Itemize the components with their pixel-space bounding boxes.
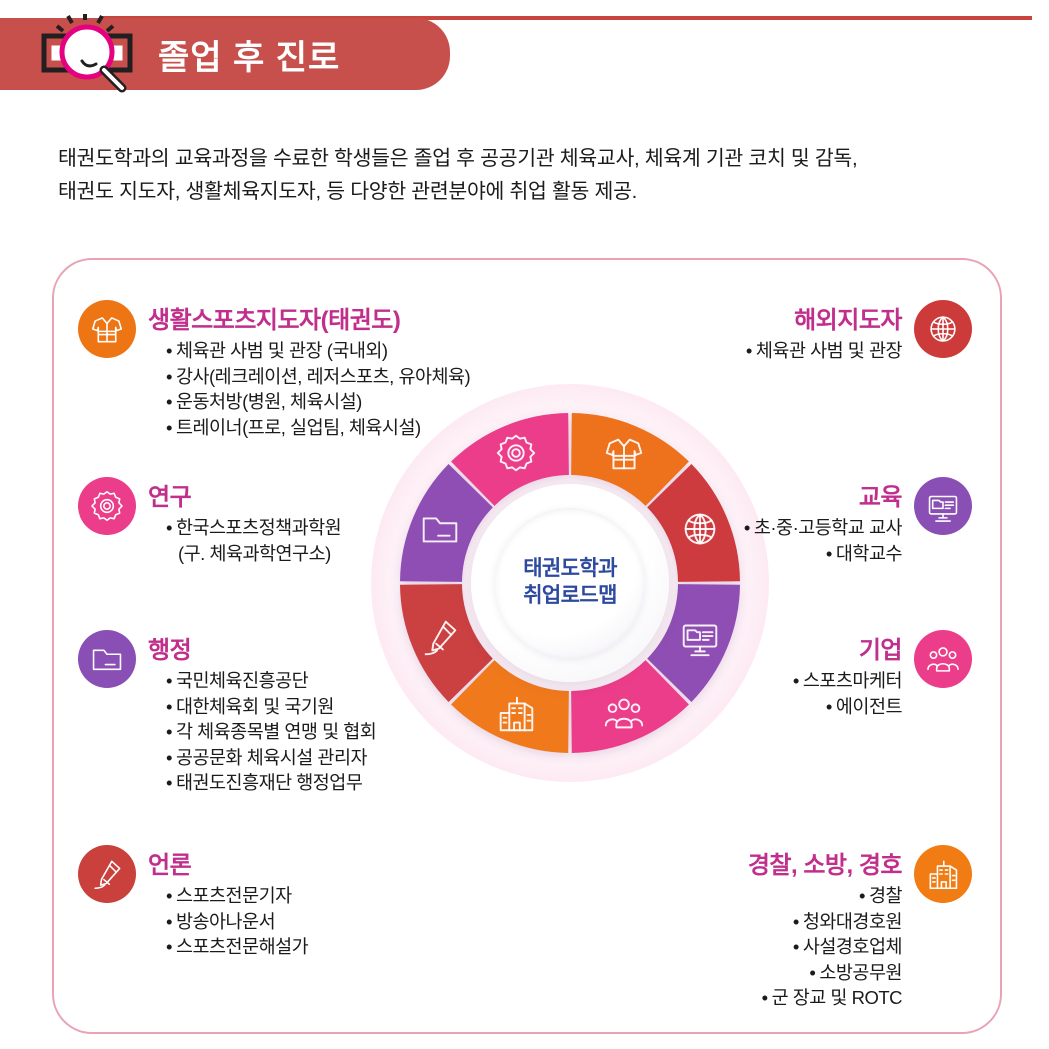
section-list-item-label: 소방공무원 xyxy=(819,962,902,983)
section-list-item: •각 체육종목별 연맹 및 협회 xyxy=(166,719,376,745)
section-sports-leader: 생활스포츠지도자(태권도) •체육관 사범 및 관장 (국내외)•강사(레크레이… xyxy=(78,300,470,440)
section-list-item-label: 에이전트 xyxy=(836,696,902,717)
section-list-item: •소방공무원 xyxy=(640,960,902,986)
monitor-badge xyxy=(914,477,972,535)
section-list-item-label: 강사(레크레이션, 레저스포츠, 유아체육) xyxy=(176,366,470,387)
section-list-item: •체육관 사범 및 관장 xyxy=(640,338,902,364)
section-list-item-label: 태권도진흥재단 행정업무 xyxy=(176,772,362,793)
section-title-sports-leader: 생활스포츠지도자(태권도) xyxy=(148,300,470,335)
bullet-icon: • xyxy=(746,340,752,361)
section-list-item: •운동처방(병원, 체육시설) xyxy=(166,389,470,415)
section-list-item: •초·중·고등학교 교사 xyxy=(640,515,902,541)
bullet-icon: • xyxy=(166,391,172,412)
section-list-item-label: 청와대경호원 xyxy=(803,911,902,932)
section-list-item: •경찰 xyxy=(640,883,902,909)
intro-paragraph: 태권도학과의 교육과정을 수료한 학생들은 졸업 후 공공기관 체육교사, 체육… xyxy=(58,142,1018,208)
section-list-item: •대학교수 xyxy=(640,541,902,567)
section-list-item: •체육관 사범 및 관장 (국내외) xyxy=(166,338,470,364)
section-list-item-label: 체육관 사범 및 관장 (국내외) xyxy=(176,340,388,361)
bullet-icon: • xyxy=(166,885,172,906)
section-list-item: •에이전트 xyxy=(640,694,902,720)
section-media: 언론 •스포츠전문기자•방송아나운서•스포츠전문해설가 xyxy=(78,845,308,960)
section-list-corporate: •스포츠마케터•에이전트 xyxy=(640,668,902,719)
section-list-sports-leader: •체육관 사범 및 관장 (국내외)•강사(레크레이션, 레저스포츠, 유아체육… xyxy=(166,338,470,440)
bullet-icon: • xyxy=(166,517,172,538)
section-list-item-label: 공공문화 체육시설 관리자 xyxy=(176,747,367,768)
section-list-item-label: 대학교수 xyxy=(836,543,902,564)
section-list-item: •국민체육진흥공단 xyxy=(166,668,376,694)
section-title-corporate: 기업 xyxy=(640,630,902,665)
section-list-item-label: 초·중·고등학교 교사 xyxy=(754,517,902,538)
pen-badge xyxy=(78,845,136,903)
section-list-item: •방송아나운서 xyxy=(166,909,308,935)
section-list-item-label: 트레이너(프로, 실업팀, 체육시설) xyxy=(176,417,421,438)
bullet-icon: • xyxy=(166,772,172,793)
bullet-icon: • xyxy=(166,366,172,387)
section-title-media: 언론 xyxy=(148,845,308,880)
section-list-item: •공공문화 체육시설 관리자 xyxy=(166,745,376,771)
intro-line-1: 태권도학과의 교육과정을 수료한 학생들은 졸업 후 공공기관 체육교사, 체육… xyxy=(58,142,1018,175)
bullet-icon: • xyxy=(166,670,172,691)
section-title-administration: 행정 xyxy=(148,630,376,665)
page-title: 졸업 후 진로 xyxy=(158,30,340,79)
bullet-icon: • xyxy=(166,911,172,932)
dobok-badge xyxy=(78,300,136,358)
section-list-item: •청와대경호원 xyxy=(640,909,902,935)
bullet-icon: • xyxy=(166,417,172,438)
section-list-item: •사설경호업체 xyxy=(640,934,902,960)
magnifier-icon xyxy=(30,14,150,96)
globe-badge xyxy=(914,300,972,358)
section-title-overseas: 해외지도자 xyxy=(640,300,902,335)
research-note: (구. 체육과학연구소) xyxy=(178,541,341,567)
section-list-item-label: 각 체육종목별 연맹 및 협회 xyxy=(176,721,376,742)
section-title-security: 경찰, 소방, 경호 xyxy=(640,845,902,880)
bullet-icon: • xyxy=(744,517,750,538)
section-list-overseas: •체육관 사범 및 관장 xyxy=(640,338,902,364)
section-title-research: 연구 xyxy=(148,477,341,512)
bullet-icon: • xyxy=(859,885,865,906)
wheel-center-line-2: 취업로드맵 xyxy=(523,583,617,610)
section-security: 경찰, 소방, 경호 •경찰•청와대경호원•사설경호업체•소방공무원•군 장교 … xyxy=(640,845,972,1011)
bullet-icon: • xyxy=(166,340,172,361)
bullet-icon: • xyxy=(166,747,172,768)
section-list-item: •한국스포츠정책과학원 xyxy=(166,515,341,541)
section-list-item-label: 대한체육회 및 국기원 xyxy=(176,696,334,717)
section-list-item-label: 사설경호업체 xyxy=(803,936,902,957)
section-list-item-label: 군 장교 및 ROTC xyxy=(772,987,902,1008)
section-list-item: •스포츠전문해설가 xyxy=(166,934,308,960)
section-list-item-label: 경찰 xyxy=(869,885,902,906)
section-list-item-label: 체육관 사범 및 관장 xyxy=(756,340,902,361)
bullet-icon: • xyxy=(826,543,832,564)
intro-line-2: 태권도 지도자, 생활체육지도자, 등 다양한 관련분야에 취업 활동 제공. xyxy=(58,175,1018,208)
section-list-item: •강사(레크레이션, 레저스포츠, 유아체육) xyxy=(166,364,470,390)
wheel-center-line-1: 태권도학과 xyxy=(523,556,617,583)
section-list-item-label: 운동처방(병원, 체육시설) xyxy=(176,391,362,412)
section-corporate: 기업 •스포츠마케터•에이전트 xyxy=(640,630,972,719)
section-list-item: •대한체육회 및 국기원 xyxy=(166,694,376,720)
section-title-education: 교육 xyxy=(640,477,902,512)
people-badge xyxy=(914,630,972,688)
bullet-icon: • xyxy=(793,936,799,957)
bullet-icon: • xyxy=(166,721,172,742)
bullet-icon: • xyxy=(793,911,799,932)
section-list-security: •경찰•청와대경호원•사설경호업체•소방공무원•군 장교 및 ROTC xyxy=(640,883,902,1011)
section-list-administration: •국민체육진흥공단•대한체육회 및 국기원•각 체육종목별 연맹 및 협회•공공… xyxy=(166,668,376,796)
section-list-item-label: 스포츠마케터 xyxy=(803,670,902,691)
folder-badge xyxy=(78,630,136,688)
bullet-icon: • xyxy=(762,987,768,1008)
section-list-item-label: 방송아나운서 xyxy=(176,911,275,932)
section-overseas: 해외지도자 •체육관 사범 및 관장 xyxy=(640,300,972,364)
section-list-item-label: 스포츠전문해설가 xyxy=(176,936,308,957)
bullet-icon: • xyxy=(826,696,832,717)
bullet-icon: • xyxy=(809,962,815,983)
section-list-research: •한국스포츠정책과학원 xyxy=(166,515,341,541)
section-education: 교육 •초·중·고등학교 교사•대학교수 xyxy=(640,477,972,566)
section-list-item-label: 한국스포츠정책과학원 xyxy=(176,517,341,538)
section-list-item: •트레이너(프로, 실업팀, 체육시설) xyxy=(166,415,470,441)
section-list-item: •스포츠마케터 xyxy=(640,668,902,694)
section-list-item: •스포츠전문기자 xyxy=(166,883,308,909)
gear-badge xyxy=(78,477,136,535)
section-list-item-label: 스포츠전문기자 xyxy=(176,885,292,906)
bullet-icon: • xyxy=(166,696,172,717)
section-research: 연구 •한국스포츠정책과학원 (구. 체육과학연구소) xyxy=(78,477,341,566)
bullet-icon: • xyxy=(793,670,799,691)
wheel-hub-inner: 태권도학과 취업로드맵 xyxy=(495,508,645,658)
section-list-media: •스포츠전문기자•방송아나운서•스포츠전문해설가 xyxy=(166,883,308,960)
section-list-item-label: 국민체육진흥공단 xyxy=(176,670,308,691)
building-badge xyxy=(914,845,972,903)
section-administration: 행정 •국민체육진흥공단•대한체육회 및 국기원•각 체육종목별 연맹 및 협회… xyxy=(78,630,376,796)
section-list-item: •태권도진흥재단 행정업무 xyxy=(166,770,376,796)
section-list-item: •군 장교 및 ROTC xyxy=(640,985,902,1011)
section-list-education: •초·중·고등학교 교사•대학교수 xyxy=(640,515,902,566)
bullet-icon: • xyxy=(166,936,172,957)
